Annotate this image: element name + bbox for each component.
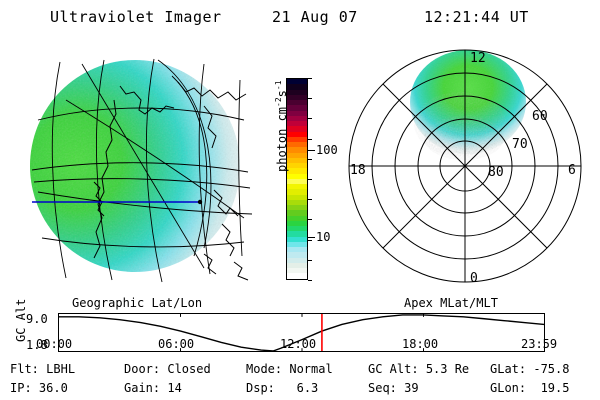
page-title: Ultraviolet Imager [50,10,222,25]
status-mode: Mode: Normal [246,362,333,376]
colorbar-minor-tick-4 [308,159,312,160]
polar-aurora-patch [410,50,526,160]
status-flt-key: Flt: [10,362,39,376]
status-seq: Seq: 39 [368,381,419,395]
colorbar-minor-tick-10 [308,280,312,281]
status-door-key: Door: [124,362,160,376]
colorbar-ticks [308,78,316,280]
apex-mlat-mlt-polar-panel: 12 6 0 18 60 70 80 [336,42,594,292]
status-ip-key: IP: [10,381,32,395]
status-glat: GLat: -75.8 [490,362,569,376]
status-door-value: Closed [167,362,210,376]
orbit-xtick-4: 23:59 [521,337,557,351]
status-dsp-key: Dsp: [246,381,275,395]
orbit-left-title: Geographic Lat/Lon [72,296,202,310]
colorbar-unit-exp1: -2 [274,97,283,107]
colorbar-minor-tick-9 [308,260,312,261]
status-glon-key: GLon: [490,381,526,395]
orbit-xtick-0: 00:00 [36,337,72,351]
orbit-xtick-3: 18:00 [402,337,438,351]
colorbar-major-tick-0 [308,150,315,151]
status-flt-value: LBHL [46,362,75,376]
observation-time: 12:21:44 UT [424,10,529,25]
status-ip: IP: 36.0 [10,381,68,395]
orbit-xtick-1: 06:00 [158,337,194,351]
status-glon-value: 19.5 [533,381,569,395]
status-dsp-value: 6.3 [282,381,318,395]
status-seq-value: 39 [404,381,418,395]
status-glat-key: GLat: [490,362,526,376]
colorbar-minor-tick-1 [308,98,312,99]
colorbar-minor-tick-3 [308,139,312,140]
mlt-label-12: 12 [470,51,486,66]
mlat-label-80: 80 [488,165,504,180]
colorbar-unit-exp2: -1 [274,80,283,90]
status-gain: Gain: 14 [124,381,182,395]
header: Ultraviolet Imager 21 Aug 07 12:21:44 UT [0,8,600,30]
status-glon: GLon: 19.5 [490,381,569,395]
mlt-label-6: 6 [568,163,576,178]
colorbar-axis-label: photon cm-2s-1 [274,80,289,172]
status-gain-key: Gain: [124,381,160,395]
status-footer: Flt: LBHL Door: Closed Mode: Normal GC A… [0,362,600,400]
colorbar-minor-tick-7 [308,219,312,220]
status-gcalt-key: GC Alt: [368,362,419,376]
colorbar-label-100: 100 [316,143,338,157]
colorbar-minor-tick-0 [308,78,312,79]
colorbar-gradient [286,78,308,280]
orbit-ytick-high: 9.0 [26,312,48,326]
colorbar-unit-s: s [275,90,289,97]
mlat-label-60: 60 [532,109,548,124]
status-gain-value: 14 [167,381,181,395]
colorbar-band-37 [287,273,307,278]
polar-plot: 12 6 0 18 60 70 80 [336,42,594,292]
colorbar-minor-tick-5 [308,179,312,180]
status-mode-key: Mode: [246,362,282,376]
status-ip-value: 36.0 [39,381,68,395]
colorbar-minor-tick-6 [308,199,312,200]
mlat-label-70: 70 [512,137,528,152]
status-flt: Flt: LBHL [10,362,75,376]
colorbar-unit-base: photon cm [275,107,289,172]
globe-graticule-overlay [8,42,263,290]
status-glat-value: -75.8 [533,362,569,376]
status-mode-value: Normal [289,362,332,376]
status-dsp: Dsp: 6.3 [246,381,318,395]
status-seq-key: Seq: [368,381,397,395]
status-gcalt-value: 5.3 Re [426,362,469,376]
orbit-altitude-strip: GC Alt 9.0 1.8 Geographic Lat/Lon Apex M… [0,296,600,354]
colorbar-label-10: 10 [316,230,330,244]
observation-date: 21 Aug 07 [272,10,358,25]
status-row-1: Flt: LBHL Door: Closed Mode: Normal GC A… [0,362,600,379]
orbit-xtick-2: 12:00 [280,337,316,351]
status-door: Door: Closed [124,362,211,376]
status-row-2: IP: 36.0 Gain: 14 Dsp: 6.3 Seq: 39 GLon:… [0,381,600,398]
geographic-globe-panel [8,42,263,290]
mlt-label-0: 0 [470,271,478,286]
mlt-label-18: 18 [350,163,366,178]
orbit-right-title: Apex MLat/MLT [404,296,498,310]
colorbar-minor-tick-2 [308,118,312,119]
uvi-display: Ultraviolet Imager 21 Aug 07 12:21:44 UT [0,0,600,400]
colorbar-minor-tick-8 [308,240,312,241]
colorbar-major-tick-1 [308,237,315,238]
status-gcalt: GC Alt: 5.3 Re [368,362,469,376]
